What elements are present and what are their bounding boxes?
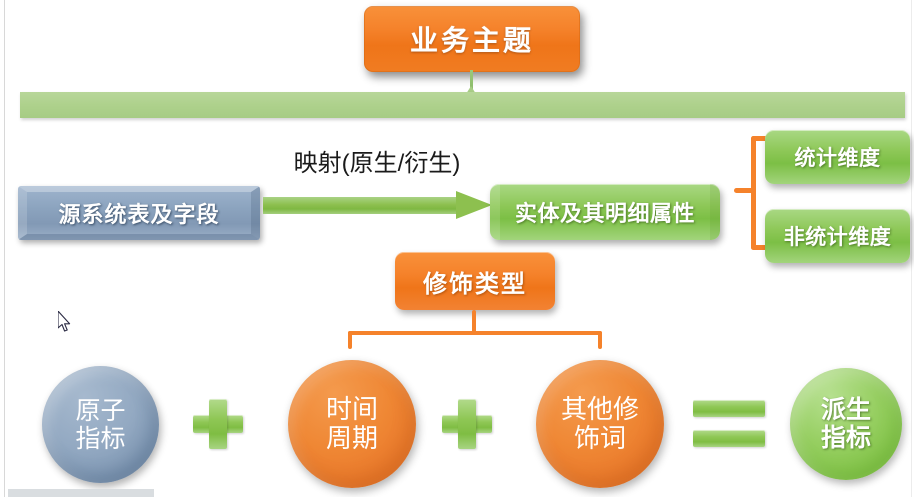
derived-metric-line1: 派生 <box>821 396 871 424</box>
time-period-line2: 周期 <box>326 424 378 453</box>
bracket-left-leg <box>348 331 352 349</box>
bracket-horizontal <box>348 331 602 335</box>
modifier-type-label: 修饰类型 <box>423 264 527 299</box>
time-period-circle[interactable]: 时间 周期 <box>288 360 416 488</box>
plus-icon <box>442 399 492 449</box>
arrow-head <box>456 191 492 219</box>
time-period-line1: 时间 <box>326 395 378 424</box>
source-system-box[interactable]: 源系统表及字段 <box>18 186 260 240</box>
atomic-metric-line2: 指标 <box>75 425 125 453</box>
page-right-edge <box>911 0 912 497</box>
dimension-bracket-icon <box>738 128 764 258</box>
bracket-right-leg <box>598 331 602 349</box>
entity-detail-attributes-label: 实体及其明细属性 <box>515 196 695 228</box>
non-statistical-dimension-label: 非统计维度 <box>784 221 892 251</box>
plus-vertical-bar <box>209 399 227 449</box>
source-system-label: 源系统表及字段 <box>58 197 219 229</box>
other-modifier-circle[interactable]: 其他修 饰词 <box>536 360 664 488</box>
statistical-dimension-label: 统计维度 <box>795 142 881 172</box>
diagram-canvas: 业务主题 源系统表及字段 映射(原生/衍生) 实体及其明细属性 统计维度 非统计… <box>0 0 914 504</box>
statistical-dimension-box[interactable]: 统计维度 <box>765 130 910 184</box>
atomic-metric-circle[interactable]: 原子 指标 <box>42 366 159 483</box>
mapping-arrow-icon <box>263 191 495 219</box>
green-banner <box>20 92 905 118</box>
equals-bottom-bar <box>693 430 765 447</box>
horizontal-scrollbar[interactable] <box>8 489 154 497</box>
derived-metric-line2: 指标 <box>821 424 871 452</box>
modifier-bracket-icon <box>346 310 604 350</box>
page-left-edge <box>4 0 5 497</box>
other-modifier-line2: 饰词 <box>574 424 626 453</box>
equals-top-bar <box>693 400 765 417</box>
plus-vertical-bar <box>458 399 476 449</box>
derived-metric-circle[interactable]: 派生 指标 <box>790 368 902 480</box>
equals-icon <box>693 400 765 448</box>
atomic-metric-line1: 原子 <box>75 397 125 425</box>
business-theme-label: 业务主题 <box>410 19 534 59</box>
other-modifier-line1: 其他修 <box>561 395 639 424</box>
arrow-shaft <box>263 197 458 214</box>
plus-icon <box>193 399 243 449</box>
bracket-stem <box>472 310 476 333</box>
mapping-label: 映射(原生/衍生) <box>277 148 477 180</box>
page-bottom-edge <box>0 497 914 504</box>
mouse-pointer-icon <box>58 311 72 333</box>
entity-detail-attributes-box[interactable]: 实体及其明细属性 <box>490 184 720 240</box>
bracket-vertical <box>751 136 756 250</box>
modifier-type-box[interactable]: 修饰类型 <box>395 252 555 310</box>
non-statistical-dimension-box[interactable]: 非统计维度 <box>765 209 910 263</box>
business-theme-box[interactable]: 业务主题 <box>364 6 580 72</box>
